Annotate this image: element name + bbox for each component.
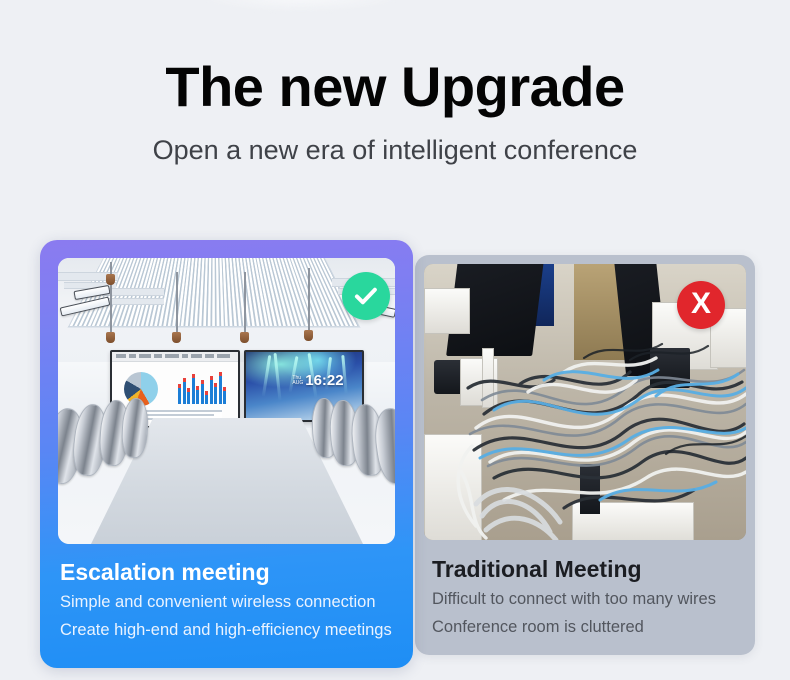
escalation-card-title: Escalation meeting [60,558,393,587]
x-icon: X [691,289,711,319]
traditional-card-title: Traditional Meeting [432,555,738,584]
traditional-card-caption: Traditional Meeting Difficult to connect… [415,555,755,640]
traditional-card-line-1: Difficult to connect with too many wires [432,584,738,612]
escalation-card-line-2: Create high-end and high-efficiency meet… [60,615,393,643]
page-background: The new Upgrade Open a new era of intell… [0,0,790,680]
escalation-card-line-1: Simple and convenient wireless connectio… [60,587,393,615]
page-subtitle: Open a new era of intelligent conference [0,117,790,166]
red-x-badge: X [677,281,725,329]
escalation-card-caption: Escalation meeting Simple and convenient… [40,558,413,643]
page-header: The new Upgrade Open a new era of intell… [0,0,790,166]
traditional-card-line-2: Conference room is cluttered [432,612,738,640]
display-clock: ThuAUG16:22 [292,372,343,389]
check-icon [352,282,380,310]
green-check-badge [342,272,390,320]
page-title: The new Upgrade [0,0,790,117]
bar-chart [178,374,226,404]
